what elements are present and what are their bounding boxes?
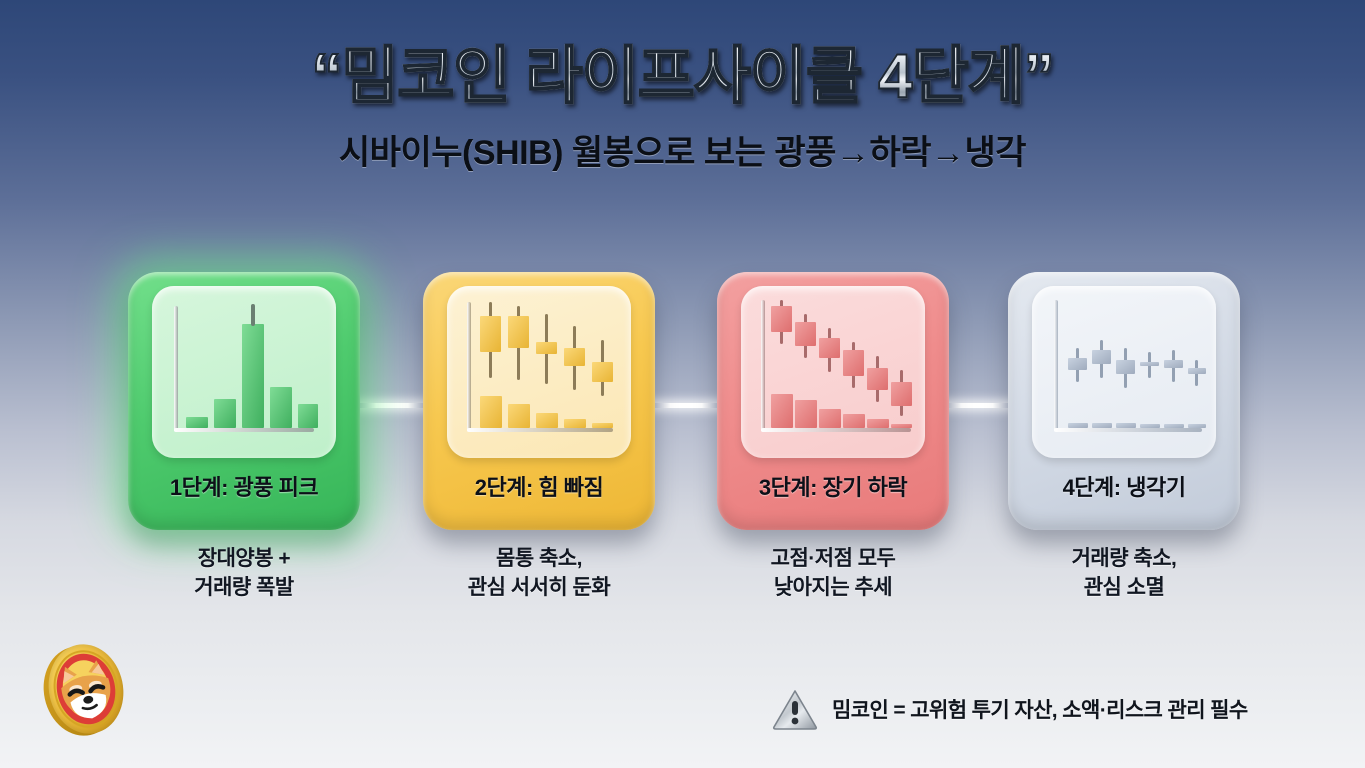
stage-1-caption-line-1: 장대양봉 + (128, 545, 360, 574)
stage-card-3[interactable]: 3단계: 장기 하락 (717, 272, 949, 530)
warning-triangle-icon (772, 688, 818, 730)
stage-3-caption-line-1: 고점·저점 모두 (717, 545, 949, 574)
page-subtitle: 시바이누(SHIB) 월봉으로 보는 광풍→하락→냉각 (0, 125, 1365, 174)
stage-1-caption-line-2: 거래량 폭발 (128, 574, 360, 603)
stage-3-caption: 고점·저점 모두 낮아지는 추세 (717, 545, 949, 602)
stage-3-caption-line-2: 낮아지는 추세 (717, 574, 949, 603)
stage-4-caption-line-2: 관심 소멸 (1008, 574, 1240, 603)
flat-doji-candles-icon (1032, 286, 1216, 458)
risk-footnote-text: 밈코인 = 고위험 투기 자산, 소액·리스크 관리 필수 (832, 694, 1248, 724)
volume-spike-bars-icon (152, 286, 336, 458)
stage-4-caption: 거래량 축소, 관심 소멸 (1008, 545, 1240, 602)
stage-2-caption: 몸통 축소, 관심 서서히 둔화 (423, 545, 655, 602)
header: “밈코인 라이프사이클 4단계” 시바이누(SHIB) 월봉으로 보는 광풍→하… (0, 44, 1365, 174)
page-title: “밈코인 라이프사이클 4단계” (0, 44, 1365, 109)
stage-4-chart-panel (1032, 286, 1216, 458)
shiba-inu-coin-logo (32, 637, 136, 741)
stage-2-caption-line-1: 몸통 축소, (423, 545, 655, 574)
risk-footnote: 밈코인 = 고위험 투기 자산, 소액·리스크 관리 필수 (772, 688, 1248, 730)
stage-2-label: 2단계: 힘 빠짐 (475, 470, 604, 502)
stage-4-caption-line-1: 거래량 축소, (1008, 545, 1240, 574)
descending-candles-icon (741, 286, 925, 458)
stage-1-label: 1단계: 광풍 피크 (170, 470, 318, 502)
stage-2-chart-panel (447, 286, 631, 458)
stage-4-label: 4단계: 냉각기 (1063, 470, 1186, 502)
stage-1-caption: 장대양봉 + 거래량 폭발 (128, 545, 360, 602)
stage-1-chart-panel (152, 286, 336, 458)
stage-3-label: 3단계: 장기 하락 (759, 470, 907, 502)
stage-card-1[interactable]: 1단계: 광풍 피크 (128, 272, 360, 530)
stage-2-caption-line-2: 관심 서서히 둔화 (423, 574, 655, 603)
stage-card-4[interactable]: 4단계: 냉각기 (1008, 272, 1240, 530)
stage-card-2[interactable]: 2단계: 힘 빠짐 (423, 272, 655, 530)
stage-card-row: 1단계: 광풍 피크 (0, 272, 1365, 532)
shrinking-candles-icon (447, 286, 631, 458)
stage-3-chart-panel (741, 286, 925, 458)
